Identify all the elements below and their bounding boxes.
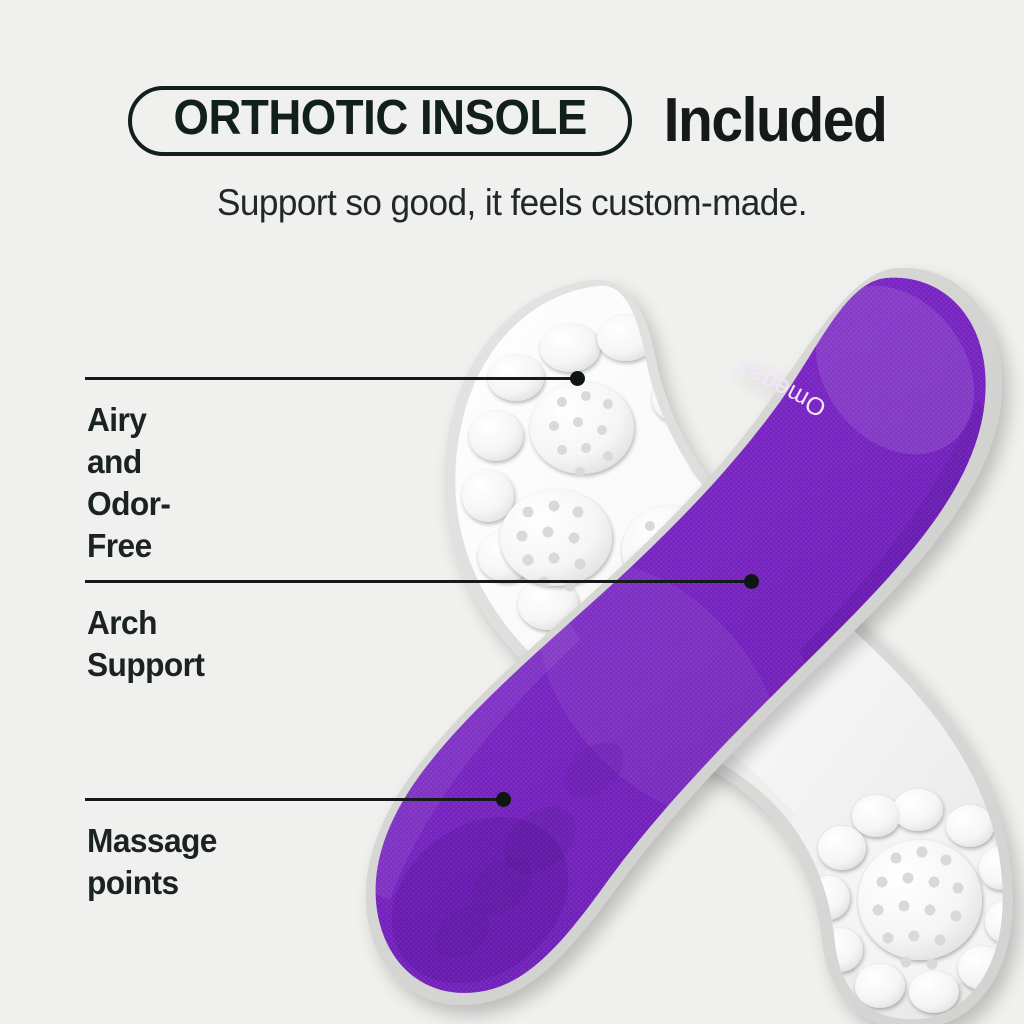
leader-endpoint-dot: [496, 792, 511, 807]
feature-label: Airy and Odor-Free: [87, 399, 170, 567]
feature-label: Arch Support: [87, 602, 204, 686]
product-photo: OmegaX: [330, 250, 1024, 1024]
headline: ORTHOTIC INSOLE Included: [0, 86, 1024, 156]
leader-line: [85, 580, 752, 583]
leader-line: [85, 377, 578, 380]
leader-endpoint-dot: [570, 371, 585, 386]
headline-suffix: Included: [664, 90, 887, 152]
subtitle: Support so good, it feels custom-made.: [26, 182, 999, 224]
infographic-canvas: ORTHOTIC INSOLE Included Support so good…: [0, 0, 1024, 1024]
badge-label: ORTHOTIC INSOLE: [173, 94, 586, 143]
leader-line: [85, 798, 504, 801]
feature-label: Massage points: [87, 820, 217, 904]
orthotic-insole-badge: ORTHOTIC INSOLE: [128, 86, 632, 156]
leader-endpoint-dot: [744, 574, 759, 589]
insole-illustration: OmegaX: [330, 250, 1024, 1024]
